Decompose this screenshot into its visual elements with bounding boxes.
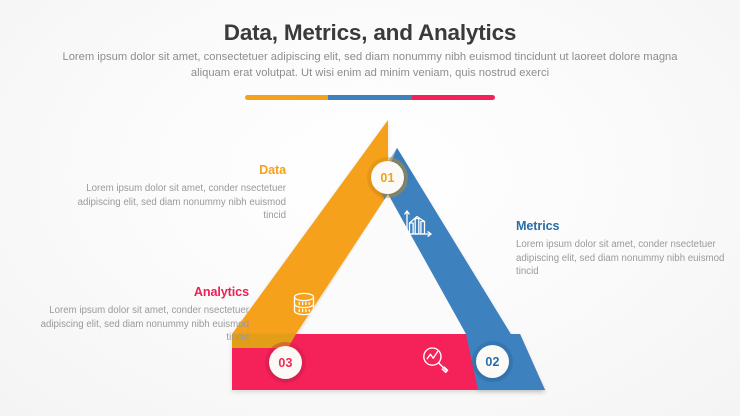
section-data-description: Lorem ipsum dolor sit amet, conder nsect… [56, 182, 286, 223]
divider [245, 95, 495, 100]
step-badge-02[interactable]: 02 [476, 345, 509, 378]
page-title: Data, Metrics, and Analytics [0, 20, 740, 46]
section-analytics-heading: Analytics [24, 285, 249, 299]
divider-segment-blue [328, 95, 411, 100]
section-analytics: Analytics Lorem ipsum dolor sit amet, co… [24, 285, 249, 345]
triangle-arm-data-wide [232, 120, 388, 334]
section-metrics-description: Lorem ipsum dolor sit amet, conder nsect… [516, 238, 740, 279]
magnifier-analytics-icon [420, 345, 450, 380]
divider-segment-orange [245, 95, 328, 100]
section-data: Data Lorem ipsum dolor sit amet, conder … [56, 163, 286, 223]
section-metrics: Metrics Lorem ipsum dolor sit amet, cond… [516, 219, 740, 279]
section-analytics-description: Lorem ipsum dolor sit amet, conder nsect… [24, 304, 249, 345]
page-subtitle: Lorem ipsum dolor sit amet, consectetuer… [55, 49, 685, 81]
infographic-canvas: Data, Metrics, and Analytics Lorem ipsum… [0, 0, 740, 416]
step-badge-01[interactable]: 01 [371, 161, 404, 194]
triangle-arm-data [232, 120, 388, 334]
bar-chart-icon [403, 209, 433, 244]
database-icon [291, 291, 317, 326]
section-data-heading: Data [56, 163, 286, 177]
step-badge-03[interactable]: 03 [269, 346, 302, 379]
section-metrics-heading: Metrics [516, 219, 740, 233]
triangle-inner-cutout [300, 194, 466, 334]
divider-segment-pink [412, 95, 495, 100]
